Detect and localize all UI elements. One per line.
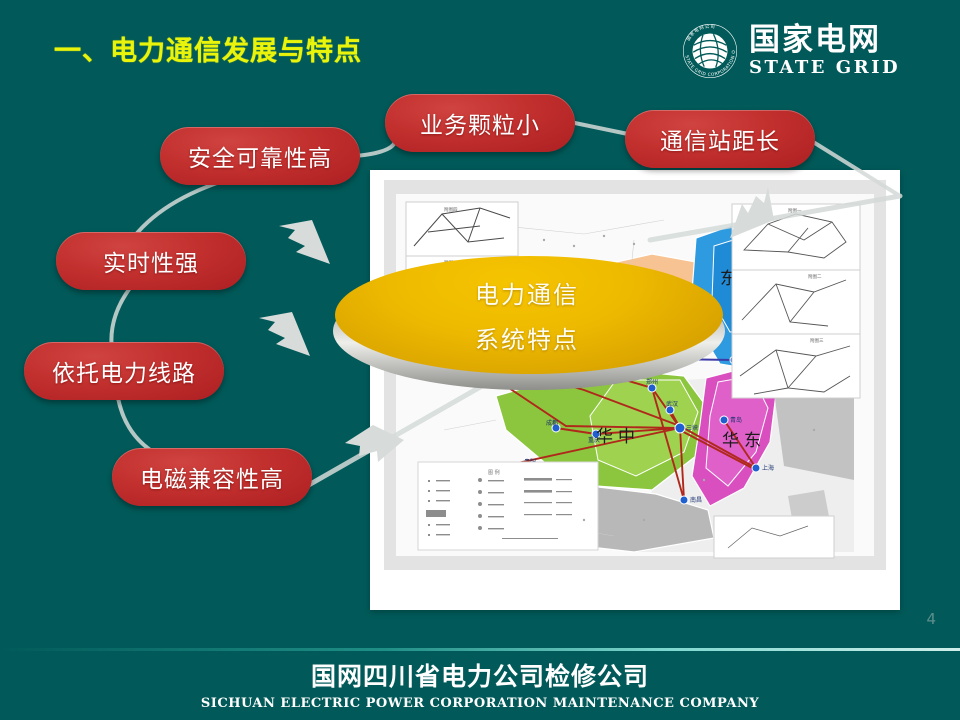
logo-name-en: STATE GRID <box>749 59 900 77</box>
feature-bubble-ssxq[interactable]: 实时性强 <box>56 232 246 290</box>
logo-name-cn: 国家电网 <box>749 25 900 56</box>
svg-text:附图四: 附图四 <box>444 206 458 213</box>
arrow-left-upper <box>279 220 330 264</box>
arrow-left-lower <box>259 312 310 356</box>
feature-bubble-label: 依托电力线路 <box>52 354 196 388</box>
feature-bubble-aqkkx[interactable]: 安全可靠性高 <box>160 127 360 185</box>
svg-text:武汉: 武汉 <box>666 400 678 408</box>
svg-text:附图二: 附图二 <box>808 273 822 280</box>
svg-text:华中: 华中 <box>596 427 640 447</box>
connector-ywklx-txzjc <box>570 122 628 134</box>
feature-bubble-label: 安全可靠性高 <box>188 139 332 173</box>
feature-bubble-ywklx[interactable]: 业务颗粒小 <box>385 94 575 152</box>
feature-bubble-label: 通信站距长 <box>660 122 780 156</box>
feature-bubble-txzjc[interactable]: 通信站距长 <box>625 110 815 168</box>
center-ellipse: 电力通信 系统特点 <box>333 256 725 388</box>
slide-footer: 国网四川省电力公司检修公司 SICHUAN ELECTRIC POWER COR… <box>0 648 960 720</box>
svg-text:成都: 成都 <box>546 419 558 427</box>
svg-text:华东: 华东 <box>722 431 766 451</box>
map-legend: 图 例 <box>418 462 598 550</box>
center-label-line2: 系统特点 <box>475 320 579 355</box>
svg-text:南昌: 南昌 <box>690 496 702 504</box>
connector-ssxq-ytdll <box>111 288 130 350</box>
feature-bubble-label: 电磁兼容性高 <box>140 460 284 494</box>
svg-text:附图一: 附图一 <box>788 207 802 214</box>
feature-bubble-label: 实时性强 <box>103 244 199 278</box>
center-label-line1: 电力通信 <box>475 275 579 310</box>
svg-text:附图三: 附图三 <box>810 337 824 344</box>
footer-company-en: SICHUAN ELECTRIC POWER CORPORATION MAINT… <box>201 696 759 711</box>
feature-bubble-dcjrx[interactable]: 电磁兼容性高 <box>112 448 312 506</box>
svg-text:上海: 上海 <box>762 464 774 472</box>
svg-text:图 例: 图 例 <box>488 469 500 476</box>
china-power-grid-map-panel: 哈尔滨 长春 沈阳 青岛 上海 西安 郑州 武汉 成都 重庆 三峡 贵阳 南昌 … <box>370 170 900 610</box>
feature-bubble-ytdll[interactable]: 依托电力线路 <box>24 342 224 400</box>
footer-company-cn: 国网四川省电力公司检修公司 <box>311 657 649 693</box>
state-grid-emblem-icon: STATE GRID CORPORATION OF CHINA 国家电网公司 <box>681 22 739 80</box>
slide-canvas: 一、电力通信发展与特点 STATE GRID CORPORATION OF CH… <box>0 0 960 720</box>
svg-text:青岛: 青岛 <box>730 416 742 424</box>
state-grid-logo: STATE GRID CORPORATION OF CHINA 国家电网公司 国… <box>681 20 931 82</box>
footer-divider <box>0 648 960 651</box>
page-number: 4 <box>926 610 936 628</box>
page-title: 一、电力通信发展与特点 <box>54 29 362 68</box>
feature-bubble-label: 业务颗粒小 <box>420 106 540 140</box>
svg-text:三峡: 三峡 <box>686 424 698 432</box>
